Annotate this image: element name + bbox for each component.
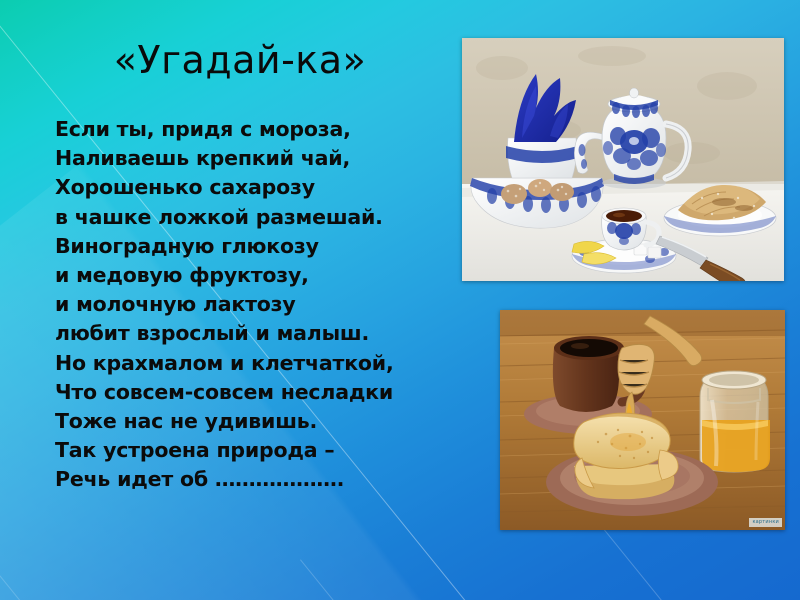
verse-line: и молочную лактозу [55,290,455,319]
verse-line: Тоже нас не удивишь. [55,407,455,436]
verse-line: Что совсем-совсем несладки [55,378,455,407]
verse-line: Наливаешь крепкий чай, [55,144,455,173]
verse-line: в чашке ложкой размешай. [55,203,455,232]
verse-line: Так устроена природа – [55,436,455,465]
verse-line: Виноградную глюкозу [55,232,455,261]
verse-line: Если ты, придя с мороза, [55,115,455,144]
slide-title: «Угадай-ка» [30,38,450,82]
verse-line: Речь идет об ………………. [55,465,455,494]
photo-tea-set [462,38,784,281]
verse-line: Но крахмалом и клетчаткой, [55,349,455,378]
verse-line: и медовую фруктозу, [55,261,455,290]
photo-honey-toast: картинки [500,310,785,530]
slide-canvas: «Угадай-ка» Если ты, придя с мороза, Нал… [0,0,800,600]
honey-toast-illustration [500,310,785,530]
background-streak-line-3 [300,559,653,600]
riddle-verse: Если ты, придя с мороза, Наливаешь крепк… [55,115,455,495]
verse-line: любит взрослый и малыш. [55,319,455,348]
tea-set-illustration [462,38,784,281]
verse-line: Хорошенько сахарозу [55,173,455,202]
photo-watermark: картинки [749,518,782,527]
